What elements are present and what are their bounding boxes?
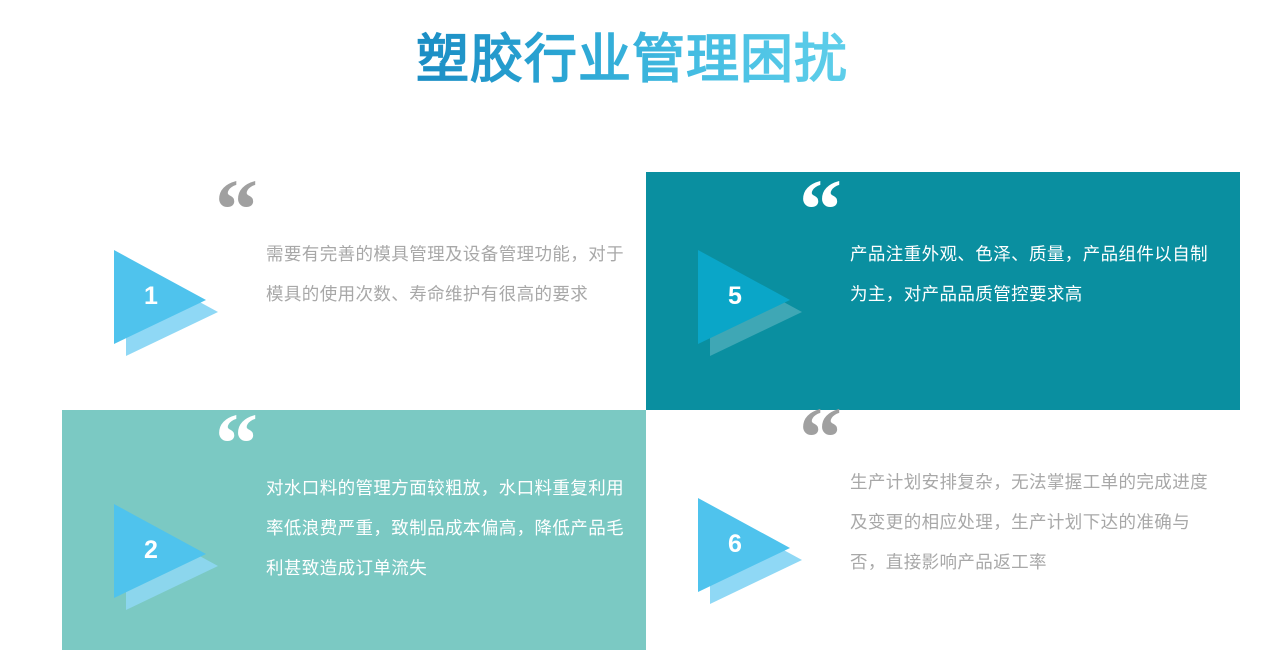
right-triangle-icon (694, 492, 802, 604)
right-triangle-icon (110, 244, 218, 356)
right-triangle-icon (694, 244, 802, 356)
card-1-text: 需要有完善的模具管理及设备管理功能，对于模具的使用次数、寿命维护有很高的要求 (266, 234, 626, 314)
card-6-text: 生产计划安排复杂，无法掌握工单的完成进度及变更的相应处理，生产计划下达的准确与否… (850, 462, 1210, 582)
card-2-text: 对水口料的管理方面较粗放，水口料重复利用率低浪费严重，致制品成本偏高，降低产品毛… (266, 468, 626, 588)
quote-mark-icon: “ (215, 410, 258, 477)
cards-grid: 1 “ 需要有完善的模具管理及设备管理功能，对于模具的使用次数、寿命维护有很高的… (0, 0, 1264, 650)
card-2-number-badge[interactable]: 2 (110, 498, 218, 610)
card-1[interactable]: 1 “ 需要有完善的模具管理及设备管理功能，对于模具的使用次数、寿命维护有很高的… (62, 172, 646, 410)
card-6-number-badge[interactable]: 6 (694, 492, 802, 604)
card-6[interactable]: 6 “ 生产计划安排复杂，无法掌握工单的完成进度及变更的相应处理，生产计划下达的… (646, 410, 1240, 650)
card-5[interactable]: 5 “ 产品注重外观、色泽、质量，产品组件以自制为主，对产品品质管控要求高 (646, 172, 1240, 410)
card-5-number-badge[interactable]: 5 (694, 244, 802, 356)
card-2[interactable]: 2 “ 对水口料的管理方面较粗放，水口料重复利用率低浪费严重，致制品成本偏高，降… (62, 410, 646, 650)
card-5-text: 产品注重外观、色泽、质量，产品组件以自制为主，对产品品质管控要求高 (850, 234, 1210, 314)
quote-mark-icon: “ (799, 404, 842, 471)
card-1-number-badge[interactable]: 1 (110, 244, 218, 356)
quote-mark-icon: “ (799, 176, 842, 243)
right-triangle-icon (110, 498, 218, 610)
quote-mark-icon: “ (215, 176, 258, 243)
